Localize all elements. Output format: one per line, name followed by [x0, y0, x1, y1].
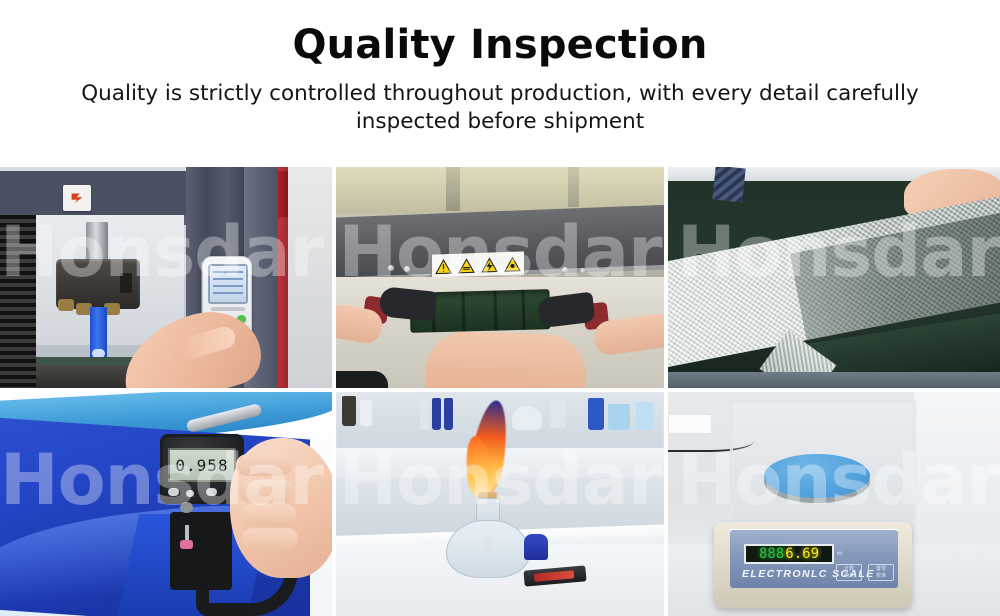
- gauge-unit-button[interactable]: [206, 488, 217, 496]
- reagent-bottle: [608, 404, 630, 430]
- warning-triangle-icon: [458, 258, 475, 274]
- gauge-anvil: [180, 540, 193, 549]
- table-surface: [668, 372, 1000, 388]
- alcohol-burner: [446, 520, 530, 578]
- machine-bellows-column: [0, 215, 36, 388]
- pendant-screen: [208, 264, 248, 304]
- gauge-dial-knob[interactable]: [180, 502, 193, 513]
- burner-blue-cap: [524, 534, 548, 560]
- scale-unit-label: g: [837, 551, 843, 554]
- photo-cell-weight-test[interactable]: 888 6.69 g JW ELECTRONLC SCALE 计数 确认 置零 …: [668, 388, 1000, 616]
- photo-cell-flame-test[interactable]: [332, 388, 668, 616]
- reagent-bottle: [420, 398, 429, 430]
- wall-red-stripe: [278, 167, 288, 388]
- reagent-bottle: [432, 398, 441, 430]
- screen-line: [213, 292, 243, 294]
- photo-coated-fabric-inspection[interactable]: [668, 167, 1000, 388]
- photo-tensile-strength-test[interactable]: [0, 167, 332, 388]
- s-logo-icon: [68, 189, 86, 207]
- reagent-bottle: [550, 400, 566, 428]
- machine-bolt: [404, 266, 410, 272]
- wall-right: [288, 167, 332, 388]
- grip-knob: [58, 299, 74, 311]
- photo-flame-retardant-test[interactable]: [336, 392, 664, 616]
- dark-corner-shadow: [336, 371, 388, 388]
- photo-cell-tensile[interactable]: [0, 167, 332, 388]
- warning-triangle-icon: [481, 257, 498, 273]
- photo-weight-gsm-test[interactable]: 888 6.69 g JW ELECTRONLC SCALE 计数 确认 置零 …: [668, 392, 1000, 616]
- page-subtitle: Quality is strictly controlled throughou…: [60, 80, 940, 137]
- scale-zero-button-label-bottom: 校准: [876, 573, 886, 579]
- gauge-body: [170, 512, 232, 590]
- reagent-bottle: [588, 398, 604, 430]
- gauge-reading-value: 0.958: [175, 456, 228, 475]
- glass-flask: [512, 406, 542, 430]
- machine-bolt: [388, 265, 394, 271]
- photo-thickness-measurement[interactable]: 0.958: [0, 392, 332, 616]
- scale-weighing-pan: [764, 454, 870, 498]
- screen-line: [213, 285, 243, 287]
- photo-welding-machine-test[interactable]: [336, 167, 664, 388]
- scale-display-value: 6.69: [785, 546, 819, 562]
- gauge-mode-button[interactable]: [186, 490, 194, 497]
- quality-inspection-banner: Quality Inspection Quality is strictly c…: [0, 0, 1000, 616]
- machine-ram: [86, 222, 108, 262]
- screen-line: [213, 271, 243, 273]
- scale-lcd-display: 888 6.69: [744, 544, 834, 564]
- photo-cell-thickness[interactable]: 0.958: [0, 388, 332, 616]
- reagent-bottle: [360, 400, 372, 426]
- scale-count-button[interactable]: 计数 确认: [836, 564, 862, 581]
- operator-forearm: [425, 330, 587, 388]
- scale-zero-button[interactable]: 置零 校准: [868, 564, 894, 581]
- inspection-photo-grid: 0.958: [0, 167, 1000, 616]
- header: Quality Inspection Quality is strictly c…: [0, 0, 1000, 137]
- reagent-bottle: [342, 396, 356, 426]
- page-title: Quality Inspection: [0, 22, 1000, 68]
- warning-triangle-icon: [435, 258, 452, 274]
- scale-display-dim-digits: 888: [759, 546, 784, 562]
- gauge-zero-button[interactable]: [168, 488, 179, 496]
- warning-triangle-icon: [504, 256, 521, 272]
- gauge-measuring-stem: [185, 525, 189, 541]
- gauge-lcd-display: 0.958: [168, 448, 236, 482]
- photo-cell-coated-fabric[interactable]: [668, 167, 1000, 388]
- photo-cell-welding[interactable]: [332, 167, 668, 388]
- operator-finger: [238, 480, 294, 502]
- scale-count-button-label-bottom: 确认: [844, 573, 854, 579]
- scale-brand-mark: JW: [956, 542, 980, 558]
- operator-finger: [242, 528, 298, 550]
- inspector-necktie: [712, 167, 745, 202]
- reagent-bottle: [444, 398, 453, 430]
- screen-line: [213, 278, 243, 280]
- pendant-brand-strip: [211, 307, 245, 311]
- operator-finger: [236, 454, 292, 476]
- reagent-bottle: [636, 402, 654, 430]
- operator-finger: [240, 504, 296, 526]
